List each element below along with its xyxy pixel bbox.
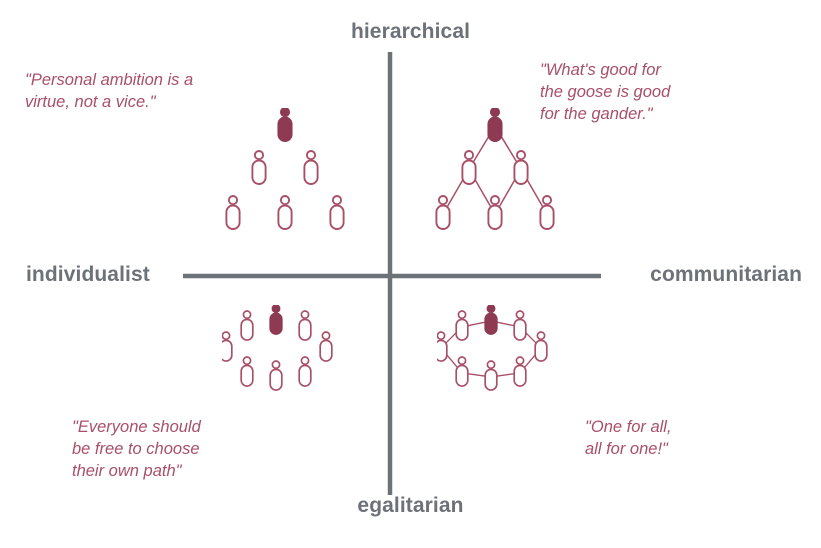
axis-label-egalitarian: egalitarian bbox=[0, 494, 821, 518]
quote-hierarchical-individualist: "Personal ambition is a virtue, not a vi… bbox=[25, 70, 193, 114]
grid-group-typology-diagram: hierarchical egalitarian individualist c… bbox=[0, 0, 821, 548]
pictogram-circle-connected bbox=[437, 305, 557, 420]
axis-label-individualist: individualist bbox=[26, 263, 150, 287]
axis-label-hierarchical: hierarchical bbox=[0, 20, 821, 44]
pictogram-pyramid-unconnected bbox=[218, 108, 358, 243]
pictogram-pyramid-connected bbox=[428, 108, 568, 243]
quote-egalitarian-individualist: "Everyone should be free to choose their… bbox=[72, 417, 201, 482]
quote-egalitarian-communitarian: "One for all, all for one!" bbox=[585, 417, 672, 461]
pictogram-circle-unconnected bbox=[222, 305, 342, 420]
axis-label-communitarian: communitarian bbox=[650, 263, 802, 287]
